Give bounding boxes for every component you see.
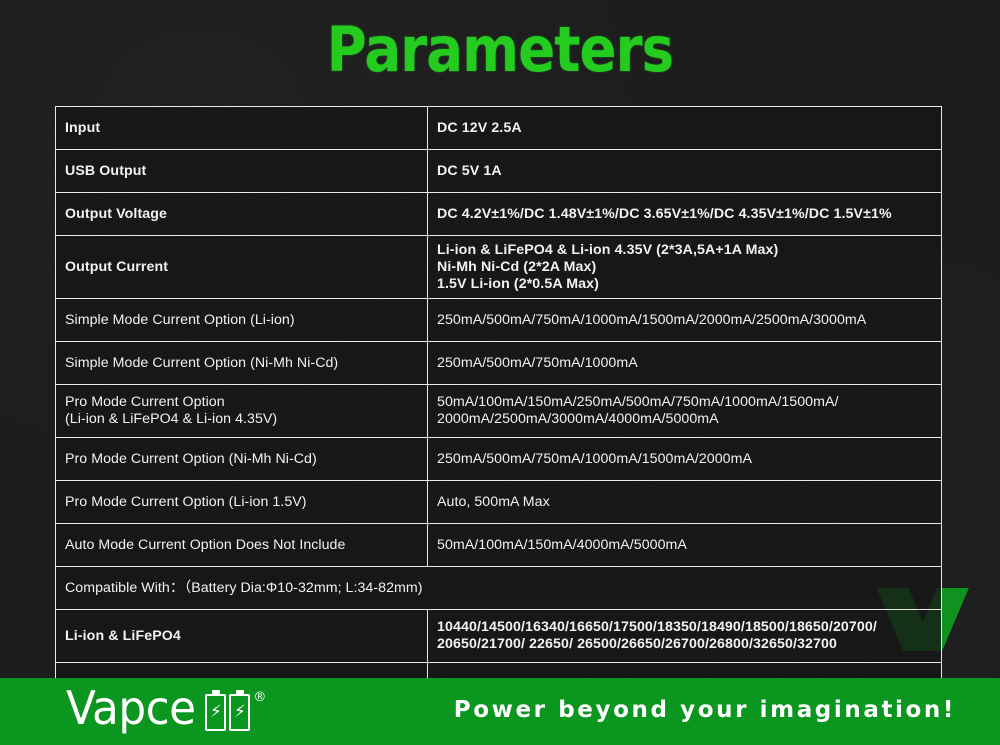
spec-value-cell: 50mA/100mA/150mA/4000mA/5000mA [428,524,942,567]
spec-label-cell: Simple Mode Current Option (Ni-Mh Ni-Cd) [56,342,428,385]
footer-tagline: Power beyond your imagination! [454,696,956,724]
spec-label-cell: Output Current [56,236,428,299]
parameters-page: V Parameters InputDC 12V 2.5AUSB OutputD… [0,0,1000,745]
spec-value-cell: 10440/14500/16340/16650/17500/18350/1849… [428,610,942,663]
spec-label-cell: Compatible With：（Battery Dia:Φ10-32mm; L… [56,567,942,610]
spec-label-cell: USB Output [56,150,428,193]
spec-label-cell: Auto Mode Current Option Does Not Includ… [56,524,428,567]
battery-icon-1: ⚡ [205,694,226,731]
spec-label-cell: Pro Mode Current Option (Li-ion & LiFePO… [56,385,428,438]
spec-label-cell: Output Voltage [56,193,428,236]
specifications-table: InputDC 12V 2.5AUSB OutputDC 5V 1AOutput… [55,106,942,745]
table-row: Pro Mode Current Option (Li-ion & LiFePO… [56,385,942,438]
lightning-bolt-icon: ⚡ [210,704,222,721]
spec-label-cell: Pro Mode Current Option (Ni-Mh Ni-Cd) [56,438,428,481]
footer-bar: Vapce ⚡ ⚡ ® Power beyond your imaginatio… [0,678,1000,745]
table-row: InputDC 12V 2.5A [56,107,942,150]
spec-value-cell: 250mA/500mA/750mA/1000mA/1500mA/2000mA/2… [428,299,942,342]
spec-value-cell: DC 5V 1A [428,150,942,193]
registered-trademark-icon: ® [253,691,266,704]
page-title: Parameters [60,14,940,86]
spec-value-cell: 250mA/500mA/750mA/1000mA/1500mA/2000mA [428,438,942,481]
spec-label-cell: Simple Mode Current Option (Li-ion) [56,299,428,342]
spec-label-cell: Pro Mode Current Option (Li-ion 1.5V) [56,481,428,524]
table-row: Simple Mode Current Option (Li-ion)250mA… [56,299,942,342]
spec-value-cell: DC 12V 2.5A [428,107,942,150]
table-row: USB OutputDC 5V 1A [56,150,942,193]
vapcell-logo: Vapce ⚡ ⚡ ® [66,685,266,733]
spec-value-cell: 50mA/100mA/150mA/250mA/500mA/750mA/1000m… [428,385,942,438]
table-row: Compatible With：（Battery Dia:Φ10-32mm; L… [56,567,942,610]
table-row: Pro Mode Current Option (Li-ion 1.5V)Aut… [56,481,942,524]
table-row: Simple Mode Current Option (Ni-Mh Ni-Cd)… [56,342,942,385]
lightning-bolt-icon: ⚡ [234,704,246,721]
spec-value-cell: Li-ion & LiFePO4 & Li-ion 4.35V (2*3A,5A… [428,236,942,299]
table-row: Output VoltageDC 4.2V±1%/DC 1.48V±1%/DC … [56,193,942,236]
spec-value-cell: 250mA/500mA/750mA/1000mA [428,342,942,385]
battery-icon-2: ⚡ [229,694,250,731]
table-row: Li-ion & LiFePO410440/14500/16340/16650/… [56,610,942,663]
table-row: Auto Mode Current Option Does Not Includ… [56,524,942,567]
logo-wordmark: Vapce [66,685,196,731]
specifications-table-body: InputDC 12V 2.5AUSB OutputDC 5V 1AOutput… [56,107,942,745]
spec-value-cell: Auto, 500mA Max [428,481,942,524]
spec-label-cell: Li-ion & LiFePO4 [56,610,428,663]
spec-value-cell: DC 4.2V±1%/DC 1.48V±1%/DC 3.65V±1%/DC 4.… [428,193,942,236]
spec-label-cell: Input [56,107,428,150]
table-row: Pro Mode Current Option (Ni-Mh Ni-Cd)250… [56,438,942,481]
table-row: Output CurrentLi-ion & LiFePO4 & Li-ion … [56,236,942,299]
